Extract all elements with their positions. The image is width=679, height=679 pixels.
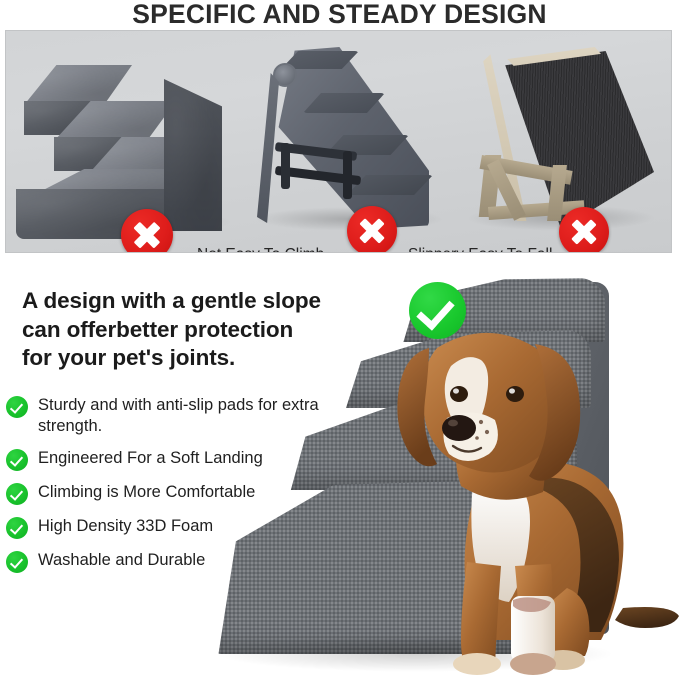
- green-check-icon: [6, 449, 28, 471]
- dog-right-eye: [506, 386, 524, 402]
- negative-examples-panel: Not Easy To Climb Slippery Easy To Fall: [5, 30, 672, 253]
- negative-item-wooden-ramp: [446, 31, 672, 252]
- dog-left-eye: [450, 386, 468, 402]
- page-title: SPECIFIC AND STEADY DESIGN: [0, 0, 679, 29]
- dog-front-right-paw: [510, 653, 556, 675]
- green-check-icon: [6, 396, 28, 418]
- dog-tail: [615, 607, 679, 628]
- negative-item-foam-box-stairs: [6, 31, 238, 252]
- dog-nose: [442, 415, 476, 441]
- plastic-folding-stairs-illustration: [251, 43, 451, 239]
- dog-front-left-leg: [461, 562, 501, 666]
- green-check-icon: [6, 551, 28, 573]
- negative-caption-1: Not Easy To Climb: [197, 246, 324, 253]
- dog-freckle: [475, 436, 479, 440]
- red-x-badge: [121, 209, 173, 253]
- green-check-icon: [6, 483, 28, 505]
- dog-nose-highlight: [448, 420, 458, 427]
- red-x-badge: [347, 206, 397, 253]
- negative-caption-2: Slippery Easy To Fall: [408, 246, 552, 253]
- dog-front-left-paw: [453, 653, 501, 675]
- red-x-badge: [559, 207, 609, 253]
- dog-freckle: [485, 430, 489, 434]
- infographic-page: SPECIFIC AND STEADY DESIGN: [0, 0, 679, 679]
- dog-right-eye-highlight: [509, 388, 515, 393]
- dog-freckle: [479, 420, 483, 424]
- foam-box-stairs-illustration: [12, 49, 238, 239]
- dog-left-eye-highlight: [453, 388, 459, 393]
- wooden-ramp-illustration: [446, 47, 672, 237]
- green-check-badge: [409, 282, 466, 339]
- green-check-icon: [6, 517, 28, 539]
- negative-item-plastic-folding-stairs: [251, 31, 451, 252]
